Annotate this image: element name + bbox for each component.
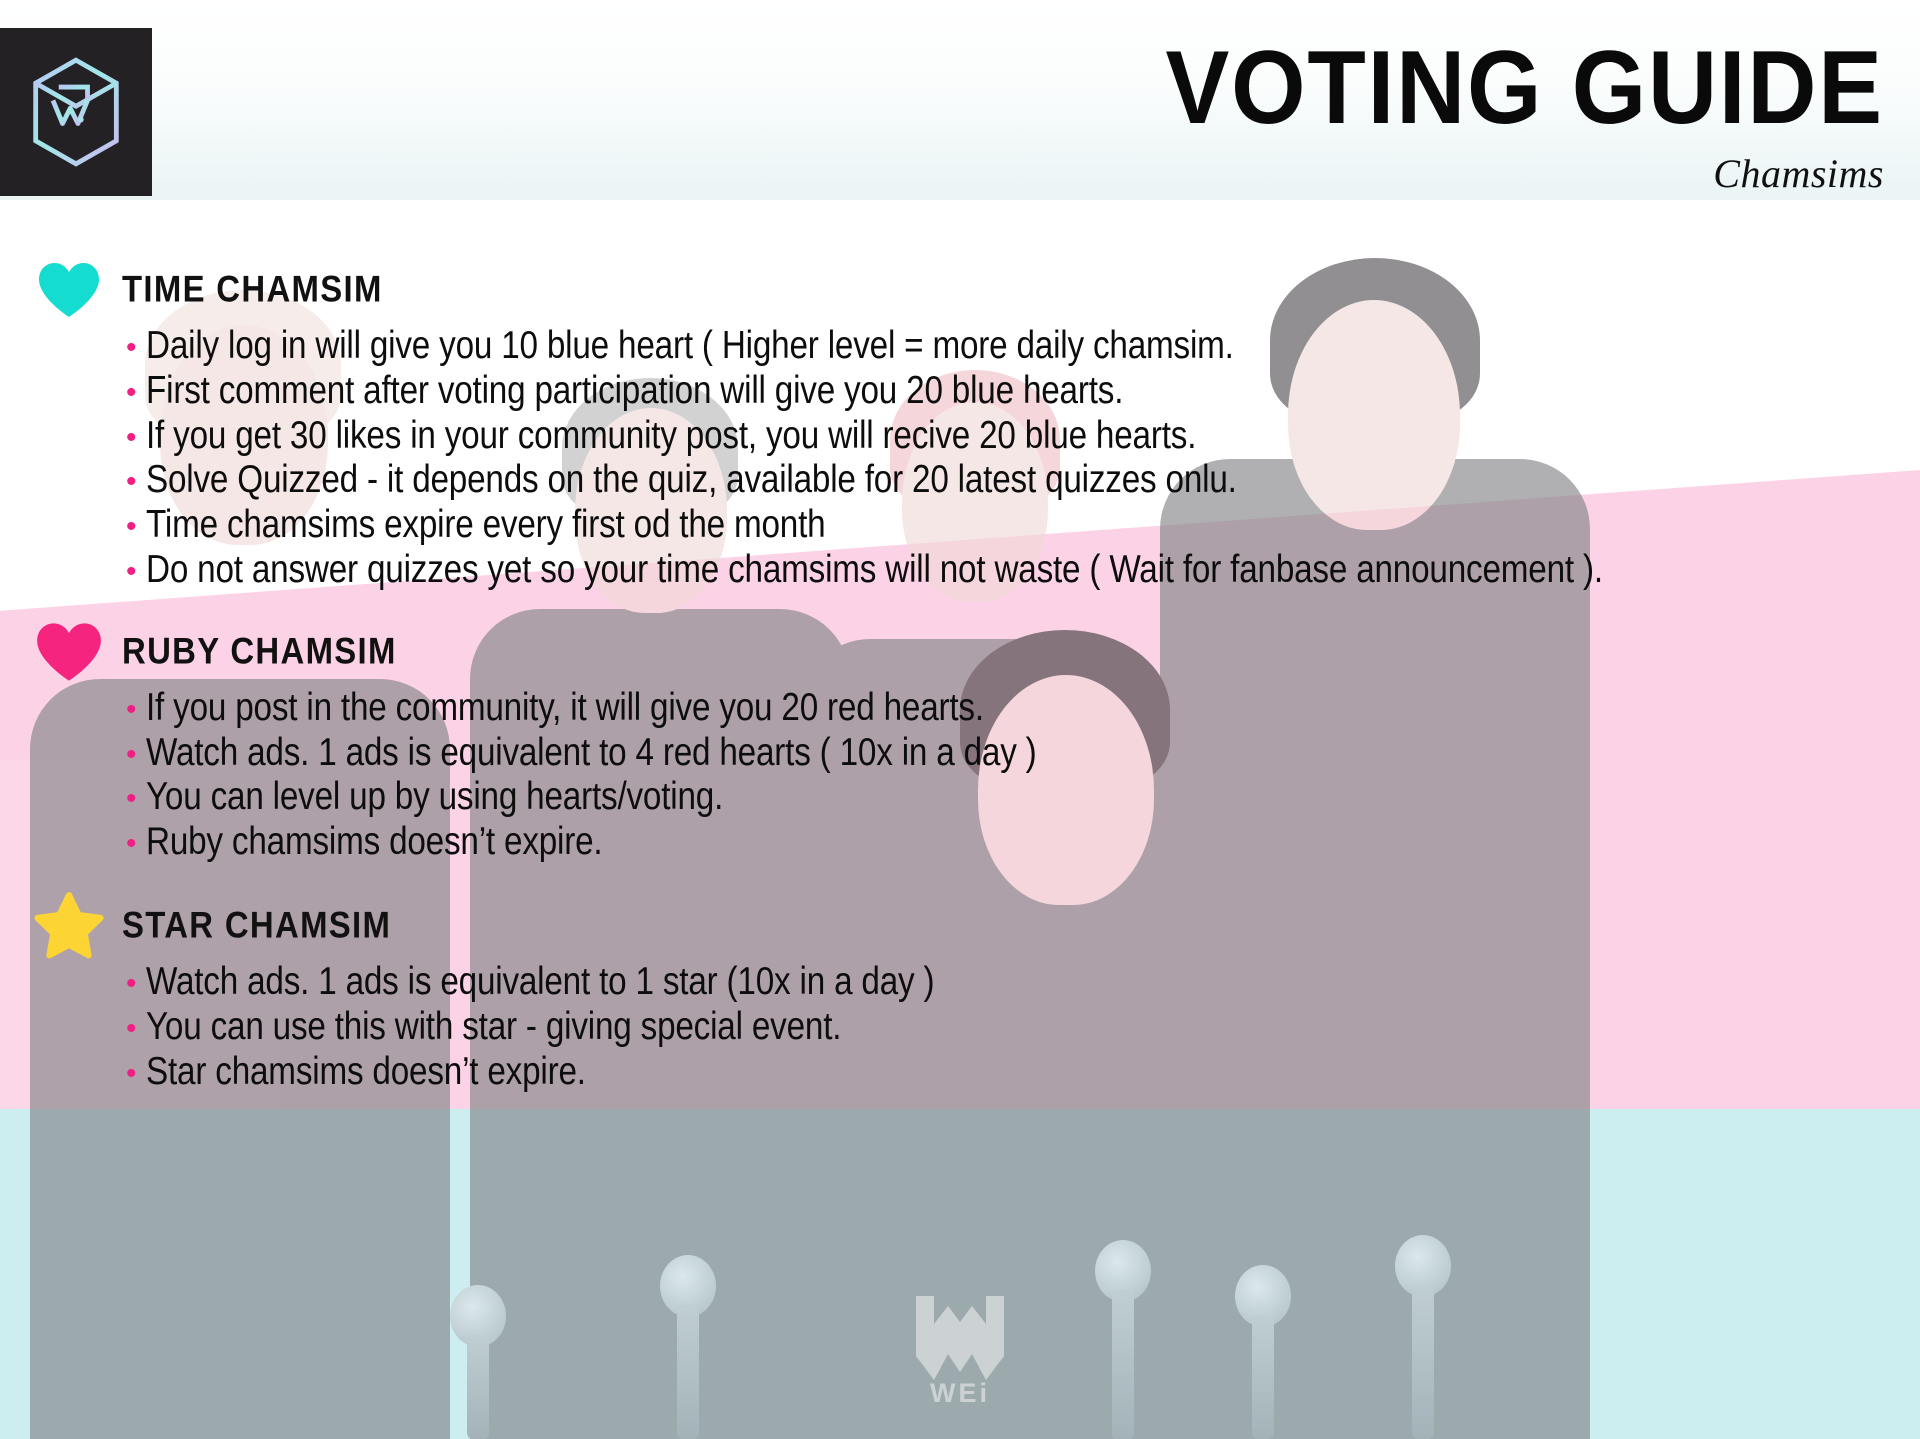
- bullet-marker-icon: •: [126, 696, 137, 725]
- list-item: • Time chamsims expire every first od th…: [126, 506, 1920, 544]
- list-item-text: First comment after voting participation…: [146, 370, 1123, 412]
- list-item: • You can use this with star - giving sp…: [126, 1008, 1920, 1046]
- bullet-marker-icon: •: [126, 558, 137, 587]
- bullet-marker-icon: •: [126, 424, 137, 453]
- bullet-marker-icon: •: [126, 970, 137, 999]
- bullet-marker-icon: •: [126, 1060, 137, 1089]
- list-item: • Watch ads. 1 ads is equivalent to 1 st…: [126, 963, 1920, 1001]
- brand-logo-box: [0, 28, 152, 196]
- list-item-text: You can use this with star - giving spec…: [146, 1006, 841, 1048]
- microphone-icon: [677, 1305, 699, 1439]
- list-item-text: You can level up by using hearts/voting.: [146, 776, 723, 818]
- list-item: • Ruby chamsims doesn’t expire.: [126, 823, 1920, 861]
- bullet-marker-icon: •: [126, 334, 137, 363]
- bullet-marker-icon: •: [126, 468, 137, 497]
- list-item-text: Time chamsims expire every first od the …: [146, 504, 825, 546]
- bullet-marker-icon: •: [126, 513, 137, 542]
- section-title: STAR CHAMSIM: [122, 905, 391, 947]
- bullet-marker-icon: •: [126, 1015, 137, 1044]
- section-star-chamsim: STAR CHAMSIM • Watch ads. 1 ads is equiv…: [30, 891, 1920, 1090]
- section-header: TIME CHAMSIM: [30, 255, 1920, 325]
- list-item-text: Do not answer quizzes yet so your time c…: [146, 549, 1603, 591]
- list-item: • Star chamsims doesn’t expire.: [126, 1053, 1920, 1091]
- header-title-block: VOTING GUIDE Chamsims: [1103, 36, 1884, 197]
- wei-watermark-label: WEi: [906, 1378, 1014, 1409]
- microphone-icon: [1412, 1285, 1434, 1439]
- section-time-chamsim: TIME CHAMSIM • Daily log in will give yo…: [30, 255, 1920, 589]
- section-title: TIME CHAMSIM: [122, 269, 383, 311]
- list-item-text: Ruby chamsims doesn’t expire.: [146, 821, 602, 863]
- teal-heart-icon: [30, 255, 108, 325]
- bullet-marker-icon: •: [126, 379, 137, 408]
- bullet-list: • If you post in the community, it will …: [30, 689, 1920, 861]
- wei-watermark: WEi: [906, 1288, 1014, 1409]
- list-item-text: Watch ads. 1 ads is equivalent to 4 red …: [146, 732, 1037, 774]
- bullet-list: • Daily log in will give you 10 blue hea…: [30, 327, 1920, 589]
- page-subtitle: Chamsims: [1103, 150, 1884, 197]
- list-item-text: Watch ads. 1 ads is equivalent to 1 star…: [146, 961, 934, 1003]
- bullet-marker-icon: •: [126, 741, 137, 770]
- wei-cube-logo-icon: [28, 54, 124, 170]
- list-item-text: If you post in the community, it will gi…: [146, 687, 984, 729]
- list-item: • First comment after voting participati…: [126, 372, 1920, 410]
- microphone-icon: [1252, 1315, 1274, 1439]
- microphone-icon: [1112, 1290, 1134, 1439]
- pink-heart-icon: [30, 617, 108, 687]
- list-item: • If you get 30 likes in your community …: [126, 417, 1920, 455]
- wei-logo-icon: [906, 1288, 1014, 1392]
- section-title: RUBY CHAMSIM: [122, 631, 397, 673]
- voting-guide-poster: VOTING GUIDE Chamsims TIME CHAMSIM • Dai…: [0, 0, 1920, 1439]
- bullet-marker-icon: •: [126, 785, 137, 814]
- page-title: VOTING GUIDE: [1166, 36, 1884, 140]
- list-item-text: If you get 30 likes in your community po…: [146, 415, 1196, 457]
- list-item: • Solve Quizzed - it depends on the quiz…: [126, 461, 1920, 499]
- bullet-list: • Watch ads. 1 ads is equivalent to 1 st…: [30, 963, 1920, 1090]
- list-item: • Daily log in will give you 10 blue hea…: [126, 327, 1920, 365]
- yellow-star-icon: [30, 891, 108, 961]
- list-item: • Do not answer quizzes yet so your time…: [126, 551, 1920, 589]
- microphone-icon: [467, 1335, 489, 1439]
- bullet-marker-icon: •: [126, 830, 137, 859]
- list-item: • Watch ads. 1 ads is equivalent to 4 re…: [126, 734, 1920, 772]
- section-ruby-chamsim: RUBY CHAMSIM • If you post in the commun…: [30, 617, 1920, 861]
- section-header: STAR CHAMSIM: [30, 891, 1920, 961]
- guide-content: TIME CHAMSIM • Daily log in will give yo…: [0, 255, 1920, 1097]
- list-item-text: Solve Quizzed - it depends on the quiz, …: [146, 460, 1237, 502]
- list-item: • If you post in the community, it will …: [126, 689, 1920, 727]
- section-header: RUBY CHAMSIM: [30, 617, 1920, 687]
- list-item-text: Daily log in will give you 10 blue heart…: [146, 325, 1234, 367]
- list-item-text: Star chamsims doesn’t expire.: [146, 1051, 586, 1093]
- list-item: • You can level up by using hearts/votin…: [126, 778, 1920, 816]
